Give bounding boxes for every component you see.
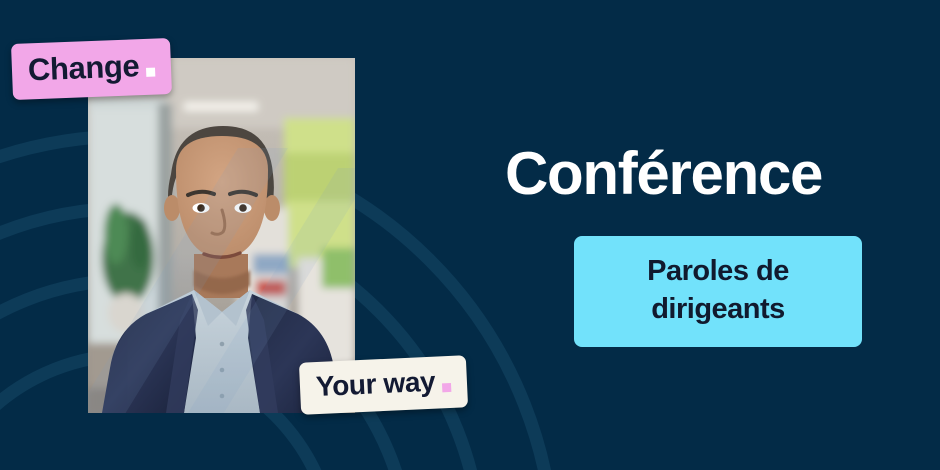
subtitle-line-1: Paroles de [584,252,852,290]
speaker-photo [88,58,355,413]
subtitle-line-2: dirigeants [584,290,852,328]
sticker-change-label: Change [27,48,140,88]
promo-banner: Change Your way Conférence Paroles de di… [0,0,940,470]
sticker-your-way: Your way [299,355,468,415]
square-dot-icon [442,382,451,391]
sticker-change: Change [11,38,172,100]
page-title: Conférence [505,144,822,204]
subtitle-badge: Paroles de dirigeants [574,236,862,347]
sticker-your-way-label: Your way [315,366,436,403]
square-dot-icon [146,67,155,76]
